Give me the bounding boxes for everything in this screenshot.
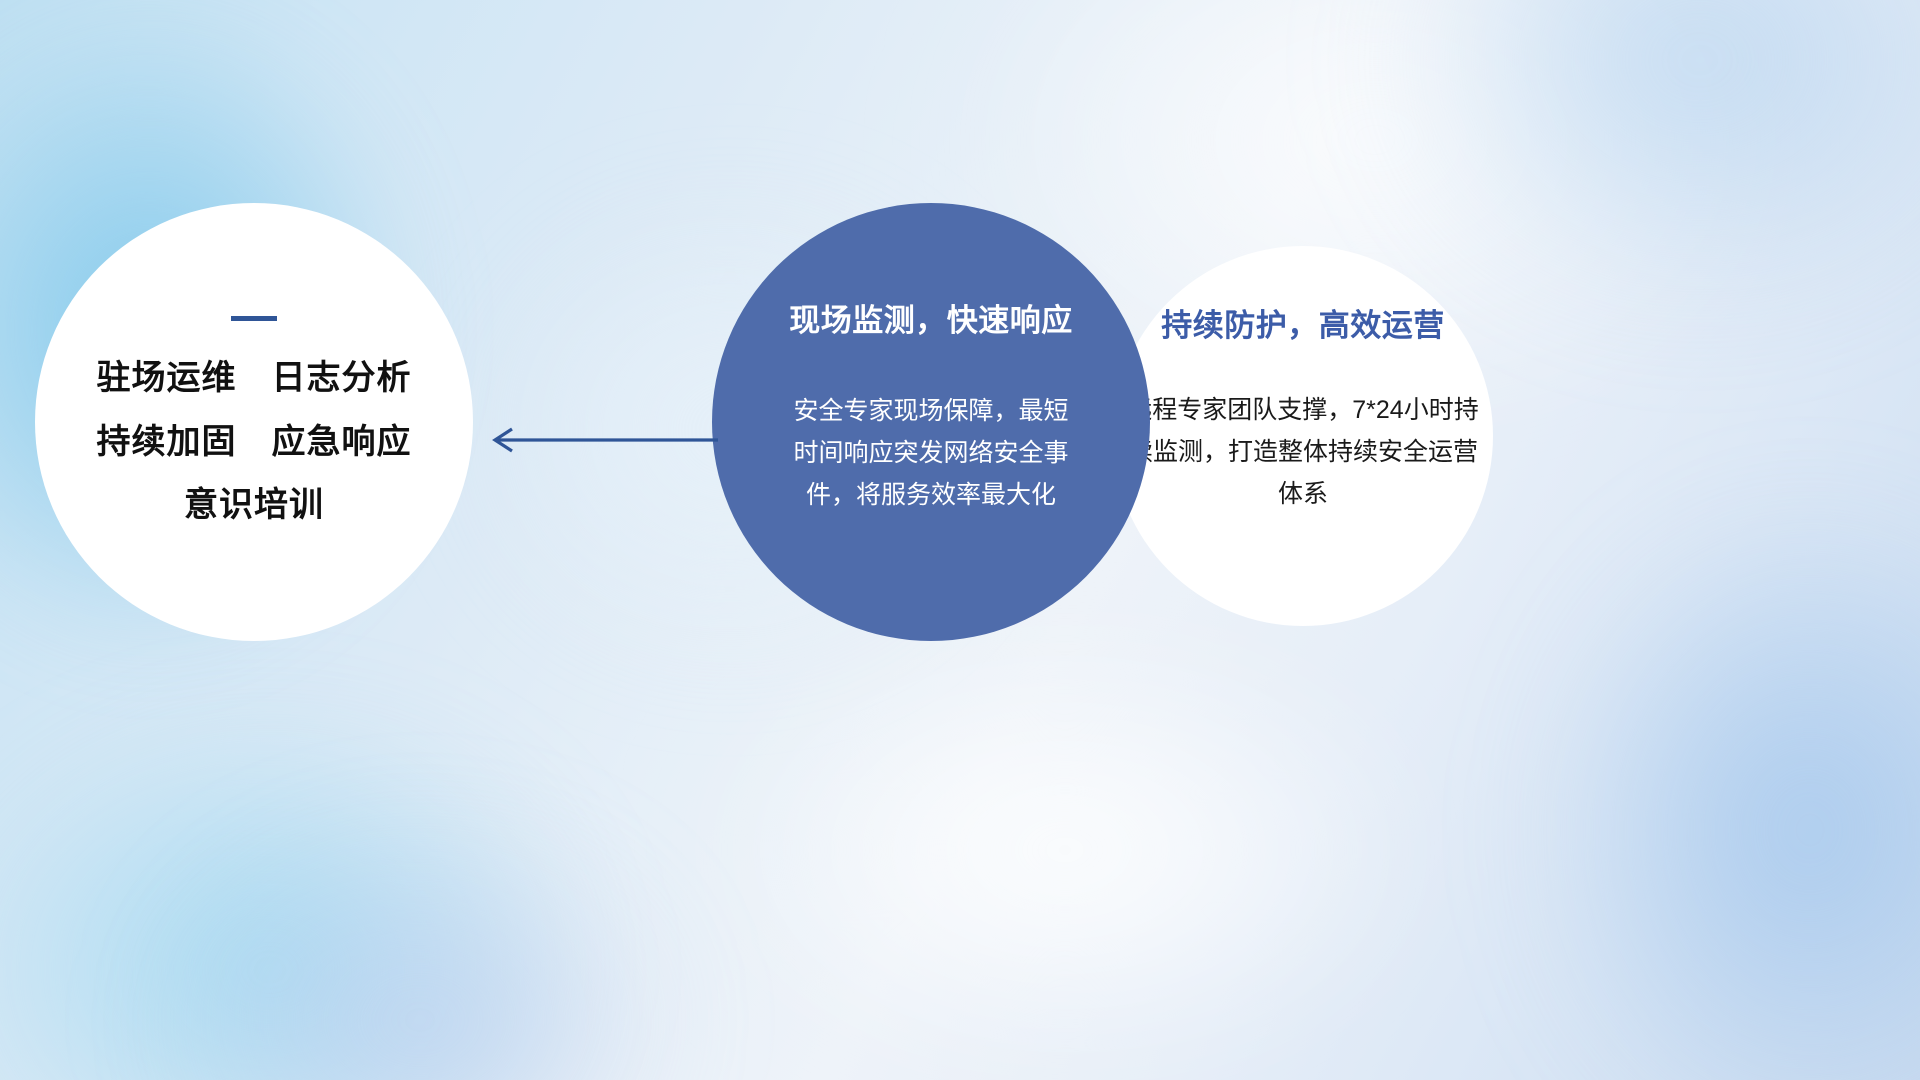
left-arrow-icon (480, 418, 720, 462)
capability-keyword-line: 驻场运维 日志分析 (97, 361, 412, 397)
slide-canvas: 驻场运维 日志分析 持续加固 应急响应 意识培训 现场监测，快速响应 安全专家现… (0, 0, 1920, 1080)
onsite-monitoring-circle: 现场监测，快速响应 安全专家现场保障，最短时间响应突发网络安全事件，将服务效率最… (712, 203, 1150, 641)
capability-keywords-circle: 驻场运维 日志分析 持续加固 应急响应 意识培训 (35, 203, 473, 641)
continuous-protection-body: 远程专家团队支撑，7*24小时持续监测，打造整体持续安全运营体系 (1125, 389, 1481, 515)
onsite-monitoring-heading: 现场监测，快速响应 (789, 295, 1073, 340)
continuous-protection-circle: 持续防护，高效运营 远程专家团队支撑，7*24小时持续监测，打造整体持续安全运营… (1113, 246, 1493, 626)
onsite-monitoring-body: 安全专家现场保障，最短时间响应突发网络安全事件，将服务效率最大化 (791, 390, 1071, 516)
divider-dash-icon (231, 316, 277, 321)
capability-keyword-line: 意识培训 (97, 488, 412, 524)
capability-keyword-list: 驻场运维 日志分析 持续加固 应急响应 意识培训 (97, 361, 412, 524)
capability-keyword-line: 持续加固 应急响应 (97, 425, 412, 461)
continuous-protection-heading: 持续防护，高效运营 (1161, 300, 1445, 345)
